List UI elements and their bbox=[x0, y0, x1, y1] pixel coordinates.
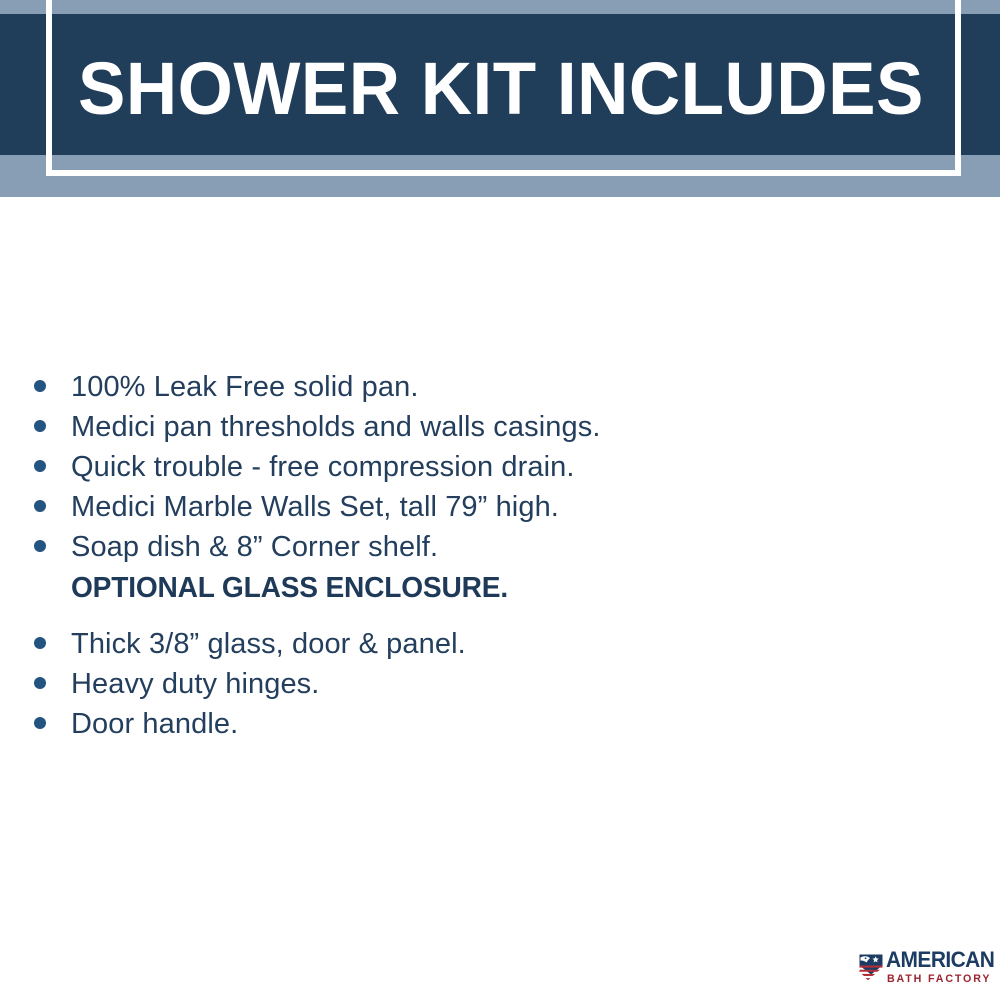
list-item-label: Medici pan thresholds and walls casings. bbox=[71, 407, 601, 447]
header-top-light-band bbox=[0, 0, 1000, 14]
list-item-label: Medici Marble Walls Set, tall 79” high. bbox=[71, 487, 559, 527]
content-area: 100% Leak Free solid pan. Medici pan thr… bbox=[0, 197, 1000, 927]
list-item: Soap dish & 8” Corner shelf. bbox=[34, 527, 964, 567]
logo-tagline: BATH FACTORY bbox=[887, 974, 999, 985]
shower-kit-feature-list: 100% Leak Free solid pan. Medici pan thr… bbox=[34, 367, 964, 744]
list-item-label: 100% Leak Free solid pan. bbox=[71, 367, 419, 407]
list-item: Heavy duty hinges. bbox=[34, 664, 964, 704]
list-item-label: Thick 3/8” glass, door & panel. bbox=[71, 624, 466, 664]
optional-section-heading-label: OPTIONAL GLASS ENCLOSURE. bbox=[71, 567, 508, 609]
bullet-icon bbox=[34, 460, 46, 472]
header-bottom-light-band bbox=[0, 155, 1000, 197]
list-group-divider bbox=[34, 609, 964, 624]
bullet-icon bbox=[34, 420, 46, 432]
bullet-icon bbox=[34, 677, 46, 689]
bullet-icon bbox=[34, 380, 46, 392]
optional-section-heading: OPTIONAL GLASS ENCLOSURE. bbox=[34, 567, 964, 609]
list-item: Door handle. bbox=[34, 704, 964, 744]
brand-logo: AMERICAN BATH FACTORY bbox=[857, 947, 993, 987]
list-item: Medici Marble Walls Set, tall 79” high. bbox=[34, 487, 964, 527]
bullet-icon bbox=[34, 540, 46, 552]
american-flag-shield-icon bbox=[857, 950, 885, 984]
list-item: 100% Leak Free solid pan. bbox=[34, 367, 964, 407]
bullet-icon bbox=[34, 500, 46, 512]
logo-wordmark: AMERICAN BATH FACTORY bbox=[886, 949, 1000, 986]
list-item-label: Heavy duty hinges. bbox=[71, 664, 319, 704]
page-title: SHOWER KIT INCLUDES bbox=[78, 44, 904, 134]
bullet-icon bbox=[34, 637, 46, 649]
list-item-label: Door handle. bbox=[71, 704, 238, 744]
list-item: Thick 3/8” glass, door & panel. bbox=[34, 624, 964, 664]
header-banner: SHOWER KIT INCLUDES bbox=[0, 0, 1000, 197]
list-item: Medici pan thresholds and walls casings. bbox=[34, 407, 964, 447]
bullet-icon bbox=[34, 717, 46, 729]
list-item-label: Soap dish & 8” Corner shelf. bbox=[71, 527, 438, 567]
list-item: Quick trouble - free compression drain. bbox=[34, 447, 964, 487]
logo-company-name: AMERICAN bbox=[886, 949, 994, 972]
list-item-label: Quick trouble - free compression drain. bbox=[71, 447, 575, 487]
